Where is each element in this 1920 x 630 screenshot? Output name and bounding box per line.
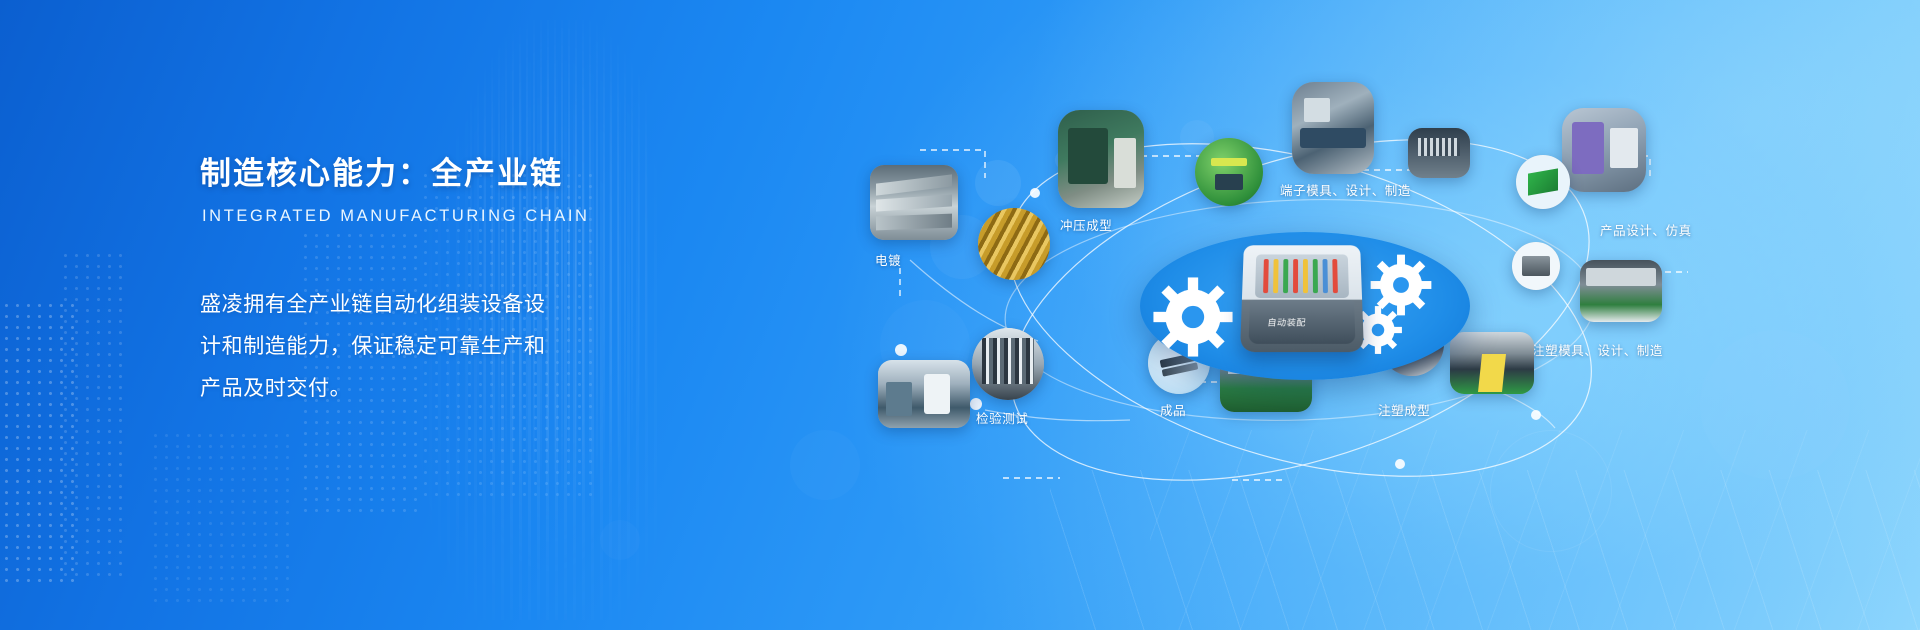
node-label-finished-goods: 成品	[1160, 400, 1186, 419]
node-label-injection-mold: 注塑模具、设计、制造	[1532, 340, 1663, 359]
factory-line-photo-icon	[870, 165, 958, 240]
node-label-stamping: 冲压成型	[1060, 215, 1112, 234]
dot-matrix-texture	[0, 300, 80, 590]
manufacturing-chain-diagram: 电镀 冲压成型 端子	[780, 60, 1920, 580]
dot-matrix-texture	[60, 250, 130, 580]
injection-mold-photo-icon	[1580, 260, 1662, 322]
mold-part-icon	[1512, 242, 1560, 290]
test-fixture-photo-icon	[972, 328, 1044, 400]
assembly-machine-illustration: 自动装配	[1240, 245, 1364, 352]
hero-copy: 制造核心能力：全产业链 INTEGRATED MANUFACTURING CHA…	[200, 148, 600, 410]
dot-matrix-texture	[150, 430, 290, 610]
hero-banner: 制造核心能力：全产业链 INTEGRATED MANUFACTURING CHA…	[0, 0, 1920, 630]
node-label-product-design: 产品设计、仿真	[1600, 220, 1692, 239]
mold-block-photo-icon	[1408, 128, 1470, 178]
hub-label: 自动装配	[1267, 316, 1307, 329]
hub-automatic-assembly[interactable]: 自动装配	[1140, 232, 1470, 392]
node-label-injection-forming: 注塑成型	[1378, 400, 1430, 419]
node-label-terminal-mold: 端子模具、设计、制造	[1280, 180, 1411, 199]
stamping-machine-photo-icon	[1058, 110, 1144, 208]
cad-design-photo-icon	[1562, 108, 1646, 192]
plated-strip-photo-icon	[978, 208, 1050, 280]
node-label-inspection: 检验测试	[976, 408, 1028, 427]
gear-icon	[1150, 274, 1236, 360]
page-subtitle: INTEGRATED MANUFACTURING CHAIN	[202, 207, 600, 226]
hero-description: 盛凌拥有全产业链自动化组装设备设计和制造能力，保证稳定可靠生产和产品及时交付。	[200, 284, 548, 410]
green-pcb-photo-icon	[1195, 138, 1263, 206]
bokeh-circle	[600, 520, 640, 560]
inspection-lab-photo-icon	[878, 360, 970, 428]
3d-model-icon	[1516, 155, 1570, 209]
node-label-electroplating: 电镀	[875, 250, 901, 269]
mold-workshop-photo-icon	[1292, 82, 1374, 174]
page-title: 制造核心能力：全产业链	[200, 148, 600, 193]
machine-well	[1255, 254, 1349, 298]
